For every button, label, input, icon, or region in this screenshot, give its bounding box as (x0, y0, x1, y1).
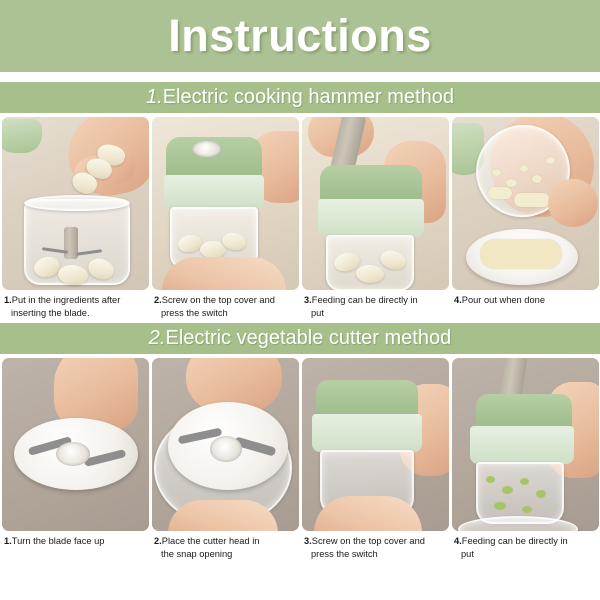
cutter-bowl (476, 462, 564, 524)
device-body (312, 414, 422, 452)
minced-garlic (492, 169, 501, 176)
minced-garlic (488, 187, 512, 199)
title-divider (0, 72, 600, 82)
minced-garlic (514, 193, 550, 207)
step-photo-blade-disc-in-hand (2, 358, 149, 531)
step-cell-2-2: 2.Place the cutter head in the snap open… (152, 358, 299, 560)
section-number-2: 2. (149, 327, 166, 349)
device-body (470, 426, 574, 464)
step-number: 3. (304, 295, 312, 305)
step-text-line1: Place the cutter head in (162, 536, 260, 546)
step-text-line1: Feeding can be directly in (462, 536, 568, 546)
step-text-line1: Screw on the top cover and (162, 295, 275, 305)
step-caption-2-3: 3.Screw on the top cover and press the s… (302, 531, 449, 560)
step-caption-1-4: 4.Pour out when done (452, 290, 599, 307)
step-text-line1: Put in the ingredients after (12, 295, 121, 305)
step-text-line2: put (304, 307, 446, 320)
section-header-2: 2.Electric vegetable cutter method (0, 323, 600, 354)
step-caption-1-2: 2.Screw on the top cover and press the s… (152, 290, 299, 319)
disc-hub (210, 436, 242, 462)
step-row-2: 1.Turn the blade face up 2.Place the cut… (0, 354, 600, 560)
supporting-hand (162, 257, 286, 290)
device-top-cover (316, 380, 418, 418)
step-photo-device-with-lid-in-hand (152, 117, 299, 290)
step-photo-place-cutter-head (152, 358, 299, 531)
step-photo-assembled-device (302, 358, 449, 531)
step-photo-hand-with-garlic-over-bowl (2, 117, 149, 290)
step-caption-2-4: 4.Feeding can be directly in put (452, 531, 599, 560)
step-photo-feeding-through-tube (302, 117, 449, 290)
step-caption-2-1: 1.Turn the blade face up (2, 531, 149, 548)
step-number: 2. (154, 536, 162, 546)
step-text-line1: Feeding can be directly in (312, 295, 418, 305)
step-text-line2: press the switch (304, 548, 446, 561)
minced-garlic (520, 165, 528, 172)
step-number: 3. (304, 536, 312, 546)
step-number: 1. (4, 536, 12, 546)
step-text-line2: press the switch (154, 307, 296, 320)
fingers (548, 179, 598, 227)
step-cell-1-2: 2.Screw on the top cover and press the s… (152, 117, 299, 319)
step-row-1: 1.Put in the ingredients after inserting… (0, 113, 600, 319)
section-label-1: Electric cooking hammer method (163, 86, 454, 108)
step-cell-1-4: 4.Pour out when done (452, 117, 599, 319)
section-header-1: 1.Electric cooking hammer method (0, 82, 600, 113)
section-label-2: Electric vegetable cutter method (165, 327, 451, 349)
step-caption-1-1: 1.Put in the ingredients after inserting… (2, 290, 149, 319)
step-cell-1-3: 3.Feeding can be directly in put (302, 117, 449, 319)
device-body (164, 175, 264, 209)
step-number: 1. (4, 295, 12, 305)
minced-garlic (532, 175, 542, 183)
step-text-line1: Turn the blade face up (12, 536, 105, 546)
supporting-hand (168, 500, 278, 531)
minced-garlic (546, 157, 555, 164)
section-number-1: 1. (146, 86, 163, 108)
minced-garlic (506, 179, 517, 187)
step-photo-pour-minced-garlic-into-bowl (452, 117, 599, 290)
step-number: 2. (154, 295, 162, 305)
step-text-line1: Screw on the top cover and (312, 536, 425, 546)
step-photo-feeding-vegetables (452, 358, 599, 531)
step-cell-2-1: 1.Turn the blade face up (2, 358, 149, 560)
device-body (318, 199, 424, 237)
disc-hub (56, 442, 90, 466)
step-text-line2: put (454, 548, 596, 561)
minced-garlic-pile (480, 239, 562, 269)
step-text-line2: inserting the blade. (4, 307, 146, 320)
step-cell-2-4: 4.Feeding can be directly in put (452, 358, 599, 560)
device-top-cover (320, 165, 422, 203)
instruction-infographic: Instructions 1.Electric cooking hammer m… (0, 0, 600, 600)
step-cell-1-1: 1.Put in the ingredients after inserting… (2, 117, 149, 319)
page-title-band: Instructions (0, 0, 600, 72)
step-caption-1-3: 3.Feeding can be directly in put (302, 290, 449, 319)
step-caption-2-2: 2.Place the cutter head in the snap open… (152, 531, 299, 560)
step-text-line1: Pour out when done (462, 295, 545, 305)
step-cell-2-3: 3.Screw on the top cover and press the s… (302, 358, 449, 560)
section-title-2: 2.Electric vegetable cutter method (149, 327, 451, 350)
step-number: 4. (454, 295, 462, 305)
chopper-bowl-rim (24, 195, 130, 211)
step-text-line2: the snap opening (154, 548, 296, 561)
feed-opening (192, 141, 222, 157)
section-title-1: 1.Electric cooking hammer method (146, 86, 454, 109)
step-number: 4. (454, 536, 462, 546)
page-title: Instructions (168, 10, 432, 62)
device-top-cover (476, 394, 572, 430)
green-bowl-prop (2, 119, 42, 153)
